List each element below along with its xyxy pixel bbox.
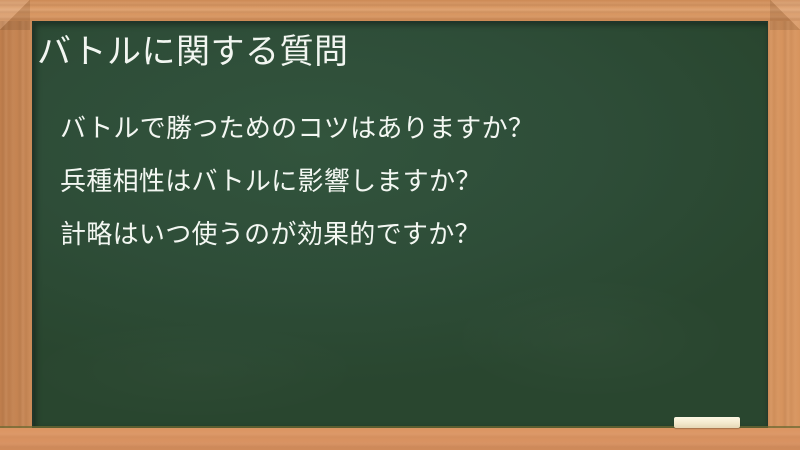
list-item: 兵種相性はバトルに影響しますか？ — [60, 156, 534, 209]
blackboard-scene: バトルに関する質問 バトルで勝つためのコツはありますか？ 兵種相性はバトルに影響… — [0, 0, 800, 450]
page-title: バトルに関する質問 — [37, 31, 349, 73]
frame-ledge-bottom — [0, 428, 800, 450]
frame-rail-top — [0, 0, 800, 21]
chalk-stick-icon — [674, 417, 740, 428]
chalkboard-surface: バトルに関する質問 バトルで勝つためのコツはありますか？ 兵種相性はバトルに影響… — [32, 21, 768, 428]
question-list: バトルで勝つためのコツはありますか？ 兵種相性はバトルに影響しますか？ 計略はい… — [60, 103, 534, 262]
list-item: バトルで勝つためのコツはありますか？ — [60, 103, 534, 156]
list-item: 計略はいつ使うのが効果的ですか？ — [60, 209, 534, 262]
